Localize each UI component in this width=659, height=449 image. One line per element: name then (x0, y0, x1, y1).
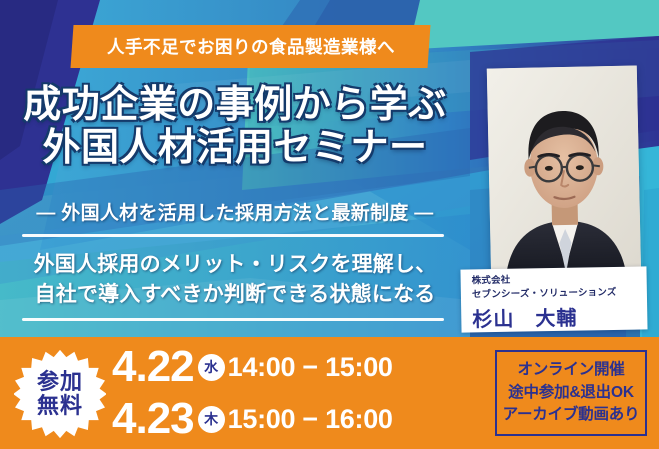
date-list: 4.22 水 14:00 − 15:00 4.23 木 15:00 − 16:0… (112, 341, 480, 445)
divider-top (22, 234, 444, 237)
day-of-week-badge: 水 (198, 354, 225, 381)
info-line-2: 途中参加&退出OK (508, 383, 634, 404)
footer-bar: 参加 無料 4.22 水 14:00 − 15:00 4.23 木 15:00 … (0, 337, 659, 449)
seminar-banner: 人手不足でお困りの食品製造業様へ 成功企業の事例から学ぶ 外国人材活用セミナー … (0, 0, 659, 449)
page-title: 成功企業の事例から学ぶ 外国人材活用セミナー (0, 84, 470, 170)
date-time: 15:00 − 16:00 (228, 404, 393, 435)
day-of-week-badge: 木 (198, 406, 225, 433)
body-copy-line-1: 外国人採用のメリット・リスクを理解し、 (0, 250, 470, 280)
info-line-3: アーカイブ動画あり (503, 405, 640, 426)
headline-line-1: 成功企業の事例から学ぶ (0, 84, 470, 127)
body-copy: 外国人採用のメリット・リスクを理解し、 自社で導入すべきか判断できる状態になる (0, 250, 470, 310)
body-copy-line-2: 自社で導入すべきか判断できる状態になる (0, 280, 470, 310)
date-number: 4.22 (112, 345, 194, 389)
date-row: 4.22 水 14:00 − 15:00 (112, 341, 480, 393)
portrait-illustration (487, 65, 641, 283)
speaker-company-line-2: セブンシーズ・ソリューションズ (472, 285, 638, 302)
free-participation-badge: 参加 無料 (14, 349, 106, 439)
info-line-1: オンライン開催 (517, 360, 624, 381)
headline-line-2: 外国人材活用セミナー (0, 127, 470, 170)
date-number: 4.23 (112, 397, 194, 441)
badge-text: 参加 無料 (14, 349, 106, 439)
speaker-photo (487, 65, 641, 283)
date-row: 4.23 木 15:00 − 16:00 (112, 393, 480, 445)
subtitle: — 外国人材を活用した採用方法と最新制度 — (0, 198, 470, 225)
speaker-card: 株式会社 セブンシーズ・ソリューションズ 杉山 大輔 (460, 266, 647, 332)
speaker-name: 杉山 大輔 (472, 300, 638, 332)
eyebrow-text: 人手不足でお困りの食品製造業様へ (107, 34, 395, 59)
eyebrow-banner: 人手不足でお困りの食品製造業様へ (70, 25, 430, 68)
date-time: 14:00 − 15:00 (228, 352, 393, 383)
badge-line-1: 参加 (37, 370, 83, 394)
badge-line-2: 無料 (37, 394, 83, 418)
event-info-box: オンライン開催 途中参加&退出OK アーカイブ動画あり (495, 350, 647, 436)
divider-bottom (22, 318, 444, 321)
